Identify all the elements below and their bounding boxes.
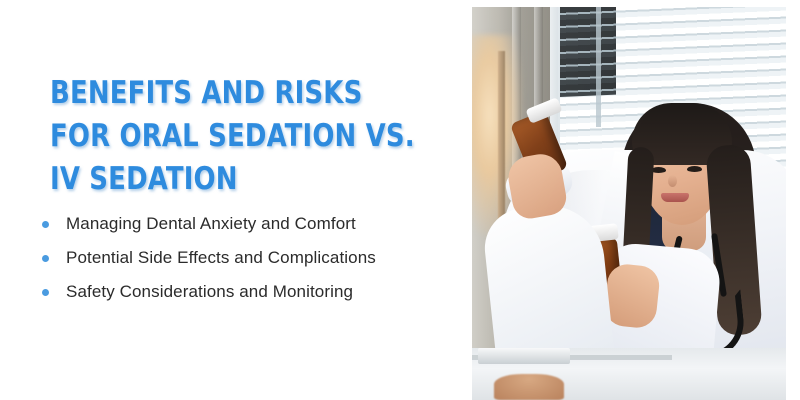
list-item-label: Safety Considerations and Monitoring [66, 281, 353, 303]
window-blinds-shadow [560, 7, 616, 97]
blinds-cord [596, 7, 601, 127]
dentist-photo [472, 7, 786, 400]
list-item: Managing Dental Anxiety and Comfort [42, 207, 462, 241]
bullet-dot-icon [42, 221, 49, 228]
nose [668, 175, 677, 187]
resting-hand [494, 374, 564, 400]
smile [661, 193, 689, 202]
bullet-list: Managing Dental Anxiety and Comfort Pote… [42, 207, 462, 309]
slide-canvas: BENEFITS AND RISKS FOR ORAL SEDATION VS.… [0, 0, 800, 400]
bullet-dot-icon [42, 289, 49, 296]
list-item-label: Potential Side Effects and Complications [66, 247, 376, 269]
list-item: Potential Side Effects and Complications [42, 241, 462, 275]
eye-right [687, 166, 702, 172]
hand-right [603, 262, 661, 329]
text-column: BENEFITS AND RISKS FOR ORAL SEDATION VS.… [0, 0, 470, 400]
list-item: Safety Considerations and Monitoring [42, 275, 462, 309]
bullet-dot-icon [42, 255, 49, 262]
list-item-label: Managing Dental Anxiety and Comfort [66, 213, 356, 235]
page-title: BENEFITS AND RISKS FOR ORAL SEDATION VS.… [50, 72, 422, 201]
laptop [478, 348, 570, 364]
